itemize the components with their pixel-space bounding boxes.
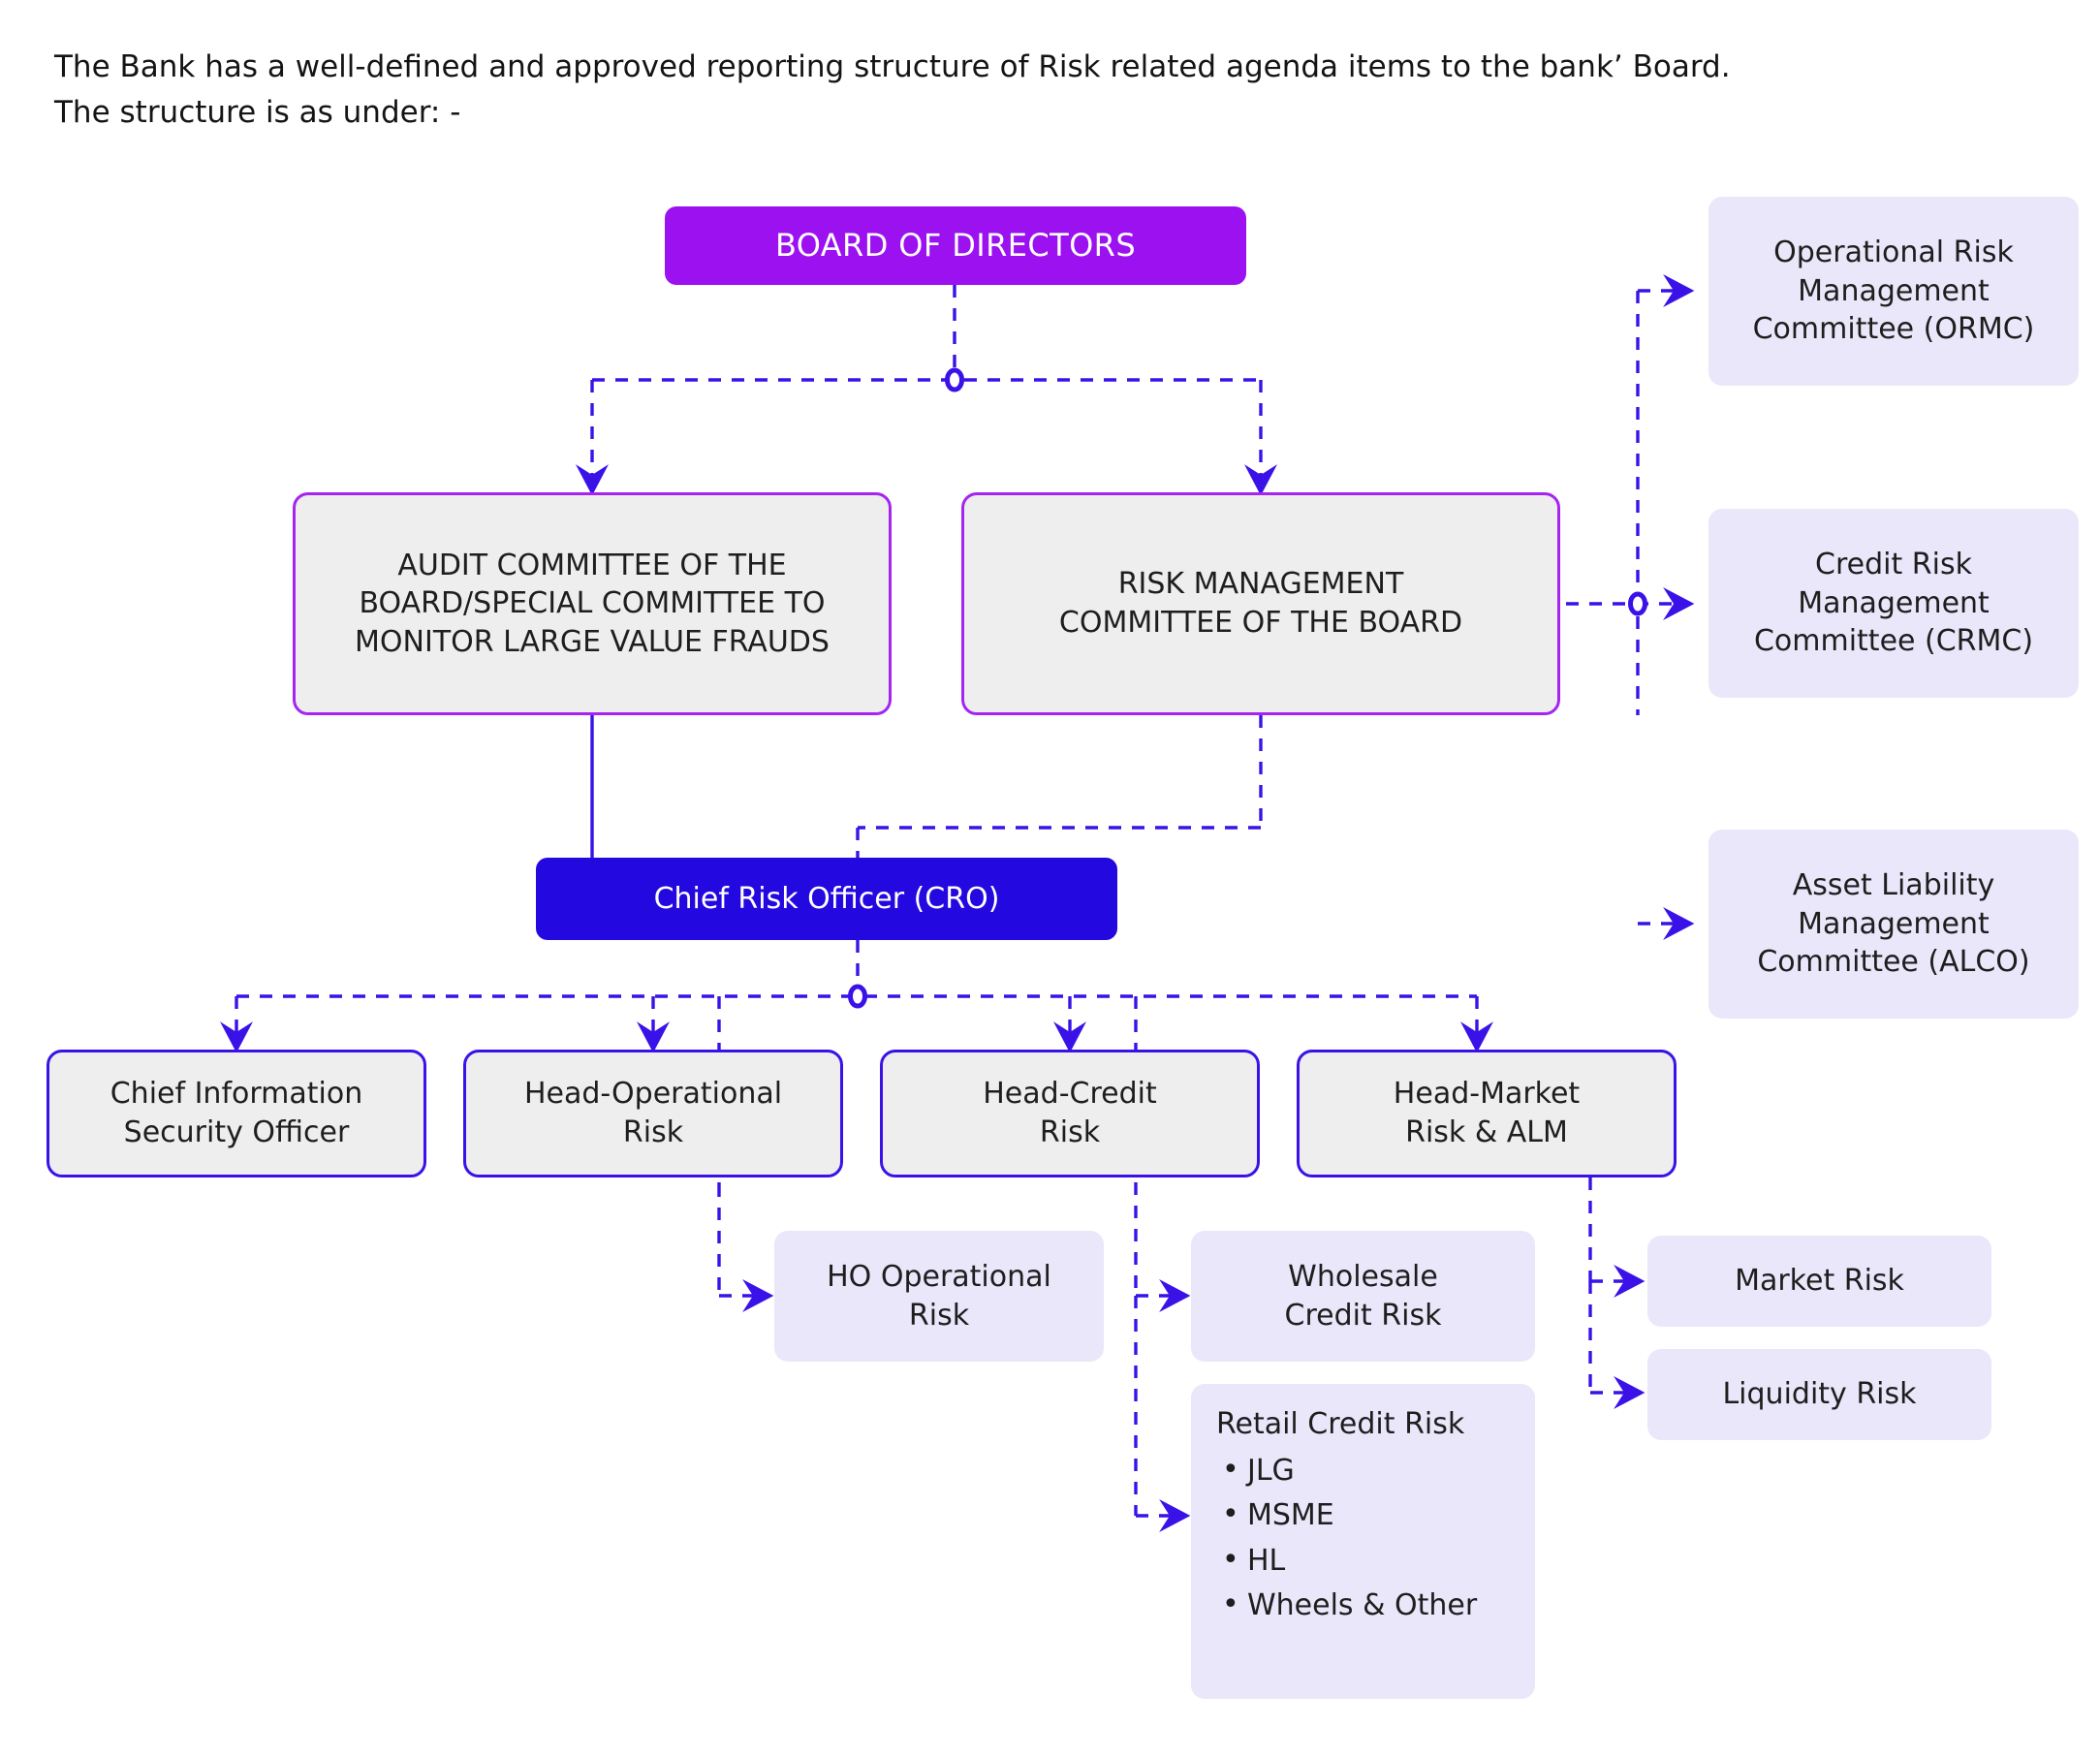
node-chief-information-security-officer[interactable]: Chief Information Security Officer: [47, 1050, 426, 1177]
node-ho-operational-risk[interactable]: HO Operational Risk: [774, 1231, 1104, 1362]
list-item: JLG: [1216, 1454, 1510, 1490]
node-label: Head-Operational Risk: [524, 1075, 782, 1151]
node-retail-credit-risk[interactable]: Retail Credit Risk JLG MSME HL Wheels & …: [1191, 1384, 1535, 1699]
node-risk-management-committee[interactable]: RISK MANAGEMENT COMMITTEE OF THE BOARD: [961, 492, 1560, 715]
intro-paragraph: The Bank has a well-defined and approved…: [54, 45, 1954, 136]
node-label: Head-Credit Risk: [983, 1075, 1157, 1151]
node-liquidity-risk[interactable]: Liquidity Risk: [1647, 1349, 1991, 1440]
node-label: Asset Liability Management Committee (AL…: [1757, 866, 2029, 982]
node-head-credit-risk[interactable]: Head-Credit Risk: [880, 1050, 1260, 1177]
node-alco[interactable]: Asset Liability Management Committee (AL…: [1708, 830, 2079, 1019]
retail-credit-risk-title: Retail Credit Risk: [1216, 1405, 1510, 1444]
node-label: Wholesale Credit Risk: [1285, 1258, 1442, 1334]
node-label: Credit Risk Management Committee (CRMC): [1754, 546, 2033, 661]
node-head-market-risk-alm[interactable]: Head-Market Risk & ALM: [1297, 1050, 1677, 1177]
node-label: HO Operational Risk: [827, 1258, 1051, 1334]
node-chief-risk-officer[interactable]: Chief Risk Officer (CRO): [536, 858, 1117, 940]
node-board-of-directors[interactable]: BOARD OF DIRECTORS: [665, 206, 1246, 285]
node-label: Liquidity Risk: [1722, 1375, 1916, 1414]
node-market-risk[interactable]: Market Risk: [1647, 1236, 1991, 1327]
list-item: HL: [1216, 1544, 1510, 1580]
node-label: BOARD OF DIRECTORS: [775, 225, 1136, 266]
org-chart-canvas: The Bank has a well-defined and approved…: [0, 0, 2100, 1758]
retail-credit-risk-list: JLG MSME HL Wheels & Other: [1216, 1454, 1510, 1624]
list-item: MSME: [1216, 1498, 1510, 1534]
node-ormc[interactable]: Operational Risk Management Committee (O…: [1708, 197, 2079, 386]
node-label: Chief Information Security Officer: [110, 1075, 363, 1151]
node-label: Market Risk: [1735, 1262, 1904, 1301]
node-label: Head-Market Risk & ALM: [1394, 1075, 1580, 1151]
node-label: AUDIT COMMITTEE OF THE BOARD/SPECIAL COM…: [355, 547, 830, 662]
node-crmc[interactable]: Credit Risk Management Committee (CRMC): [1708, 509, 2079, 698]
node-label: Chief Risk Officer (CRO): [654, 880, 1000, 919]
node-audit-committee[interactable]: AUDIT COMMITTEE OF THE BOARD/SPECIAL COM…: [293, 492, 892, 715]
list-item: Wheels & Other: [1216, 1588, 1510, 1624]
node-head-operational-risk[interactable]: Head-Operational Risk: [463, 1050, 843, 1177]
node-label: Operational Risk Management Committee (O…: [1753, 234, 2035, 349]
node-wholesale-credit-risk[interactable]: Wholesale Credit Risk: [1191, 1231, 1535, 1362]
node-label: RISK MANAGEMENT COMMITTEE OF THE BOARD: [1059, 565, 1462, 642]
